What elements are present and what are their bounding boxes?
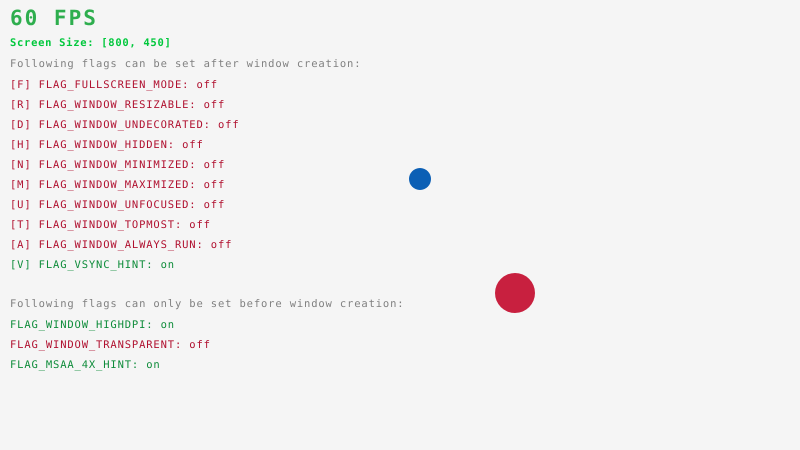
section-heading-before-creation: Following flags can only be set before w… <box>10 298 404 310</box>
flag-row-flag-window-hidden[interactable]: [H] FLAG_WINDOW_HIDDEN: off <box>10 139 204 151</box>
fps-counter: 60 FPS <box>10 6 98 30</box>
flag-row-flag-window-unfocused[interactable]: [U] FLAG_WINDOW_UNFOCUSED: off <box>10 199 225 211</box>
screen-size-label: Screen Size: [800, 450] <box>10 37 172 49</box>
red-ball <box>495 273 535 313</box>
flag-row-flag-window-highdpi[interactable]: FLAG_WINDOW_HIGHDPI: on <box>10 319 175 331</box>
flag-row-flag-fullscreen-mode[interactable]: [F] FLAG_FULLSCREEN_MODE: off <box>10 79 218 91</box>
blue-ball <box>409 168 431 190</box>
flag-row-flag-window-resizable[interactable]: [R] FLAG_WINDOW_RESIZABLE: off <box>10 99 225 111</box>
flag-row-flag-window-transparent[interactable]: FLAG_WINDOW_TRANSPARENT: off <box>10 339 211 351</box>
flag-row-flag-vsync-hint[interactable]: [V] FLAG_VSYNC_HINT: on <box>10 259 175 271</box>
flag-row-flag-window-maximized[interactable]: [M] FLAG_WINDOW_MAXIMIZED: off <box>10 179 225 191</box>
flag-row-flag-window-minimized[interactable]: [N] FLAG_WINDOW_MINIMIZED: off <box>10 159 225 171</box>
flag-row-flag-window-always-run[interactable]: [A] FLAG_WINDOW_ALWAYS_RUN: off <box>10 239 232 251</box>
section-heading-after-creation: Following flags can be set after window … <box>10 58 361 70</box>
flag-row-flag-window-undecorated[interactable]: [D] FLAG_WINDOW_UNDECORATED: off <box>10 119 240 131</box>
flag-row-flag-msaa-4x-hint[interactable]: FLAG_MSAA_4X_HINT: on <box>10 359 161 371</box>
flag-row-flag-window-topmost[interactable]: [T] FLAG_WINDOW_TOPMOST: off <box>10 219 211 231</box>
raylib-window-canvas[interactable]: 60 FPS Screen Size: [800, 450] Following… <box>0 0 800 450</box>
